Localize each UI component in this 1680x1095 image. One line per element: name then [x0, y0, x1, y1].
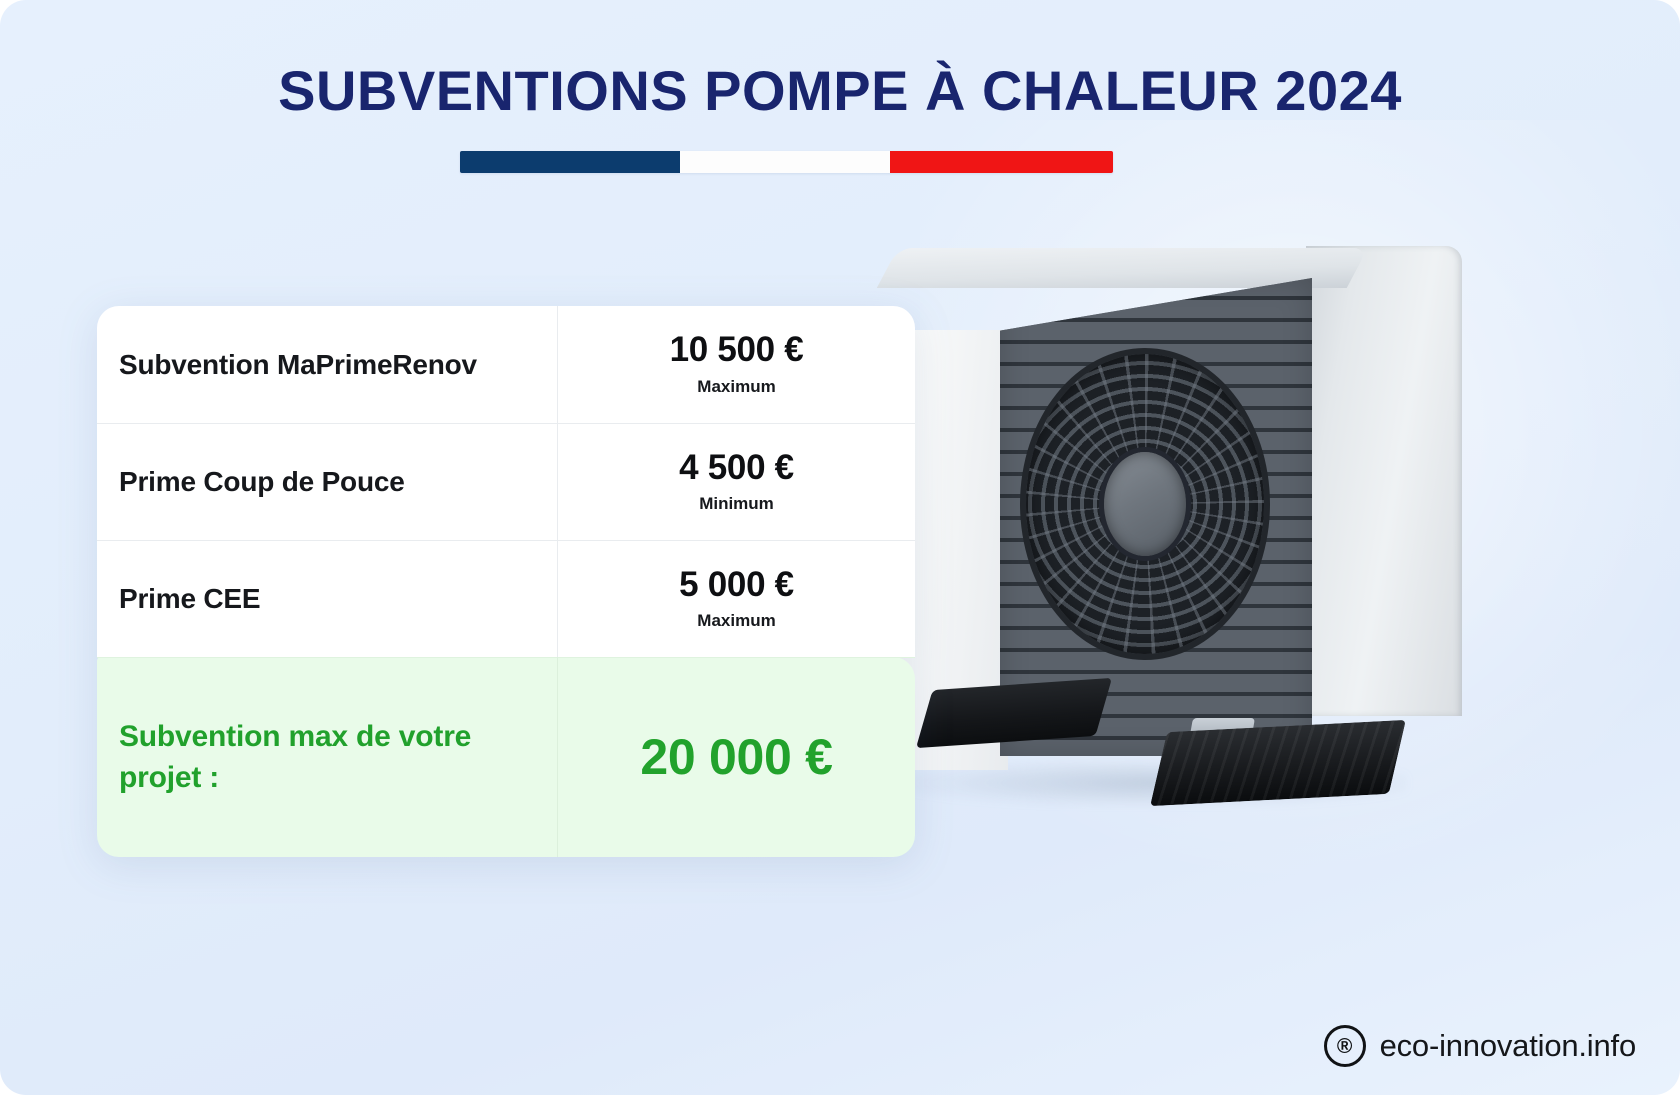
heat-pump-illustration: [838, 232, 1478, 832]
flag-segment-blue: [460, 151, 680, 173]
total-amount: 20 000 €: [640, 731, 832, 784]
row-note: Maximum: [697, 377, 775, 397]
page-title: SUBVENTIONS POMPE À CHALEUR 2024: [0, 58, 1680, 123]
french-flag-divider: [460, 151, 1113, 173]
pump-foot-right: [1150, 720, 1406, 806]
row-label: Prime CEE: [97, 540, 557, 657]
row-note: Minimum: [699, 494, 774, 514]
flag-segment-red: [890, 151, 1113, 173]
registered-trademark-icon: ®: [1324, 1025, 1366, 1067]
total-value-cell: 20 000 €: [557, 657, 915, 857]
row-amount: 4 500 €: [679, 450, 794, 487]
table-row: Prime Coup de Pouce 4 500 € Minimum: [97, 423, 915, 540]
row-value-cell: 10 500 € Maximum: [557, 306, 915, 423]
row-amount: 10 500 €: [670, 332, 804, 369]
total-label: Subvention max de votre projet :: [97, 657, 557, 857]
site-name: eco-innovation.info: [1380, 1028, 1636, 1064]
row-label: Subvention MaPrimeRenov: [97, 306, 557, 423]
row-value-cell: 5 000 € Maximum: [557, 540, 915, 657]
pump-fan-grille-icon: [1026, 354, 1264, 654]
row-label: Prime Coup de Pouce: [97, 423, 557, 540]
footer-branding: ® eco-innovation.info: [1324, 1025, 1636, 1067]
pump-side-panel: [1306, 246, 1462, 716]
infographic-canvas: SUBVENTIONS POMPE À CHALEUR 2024 Subvent…: [0, 0, 1680, 1095]
subsidy-table: Subvention MaPrimeRenov 10 500 € Maximum…: [97, 306, 915, 857]
table-row: Prime CEE 5 000 € Maximum: [97, 540, 915, 657]
row-note: Maximum: [697, 611, 775, 631]
row-value-cell: 4 500 € Minimum: [557, 423, 915, 540]
table-row: Subvention MaPrimeRenov 10 500 € Maximum: [97, 306, 915, 423]
flag-segment-white: [680, 151, 890, 173]
row-amount: 5 000 €: [679, 567, 794, 604]
table-row-total: Subvention max de votre projet : 20 000 …: [97, 657, 915, 857]
fan-hub: [1104, 452, 1186, 556]
